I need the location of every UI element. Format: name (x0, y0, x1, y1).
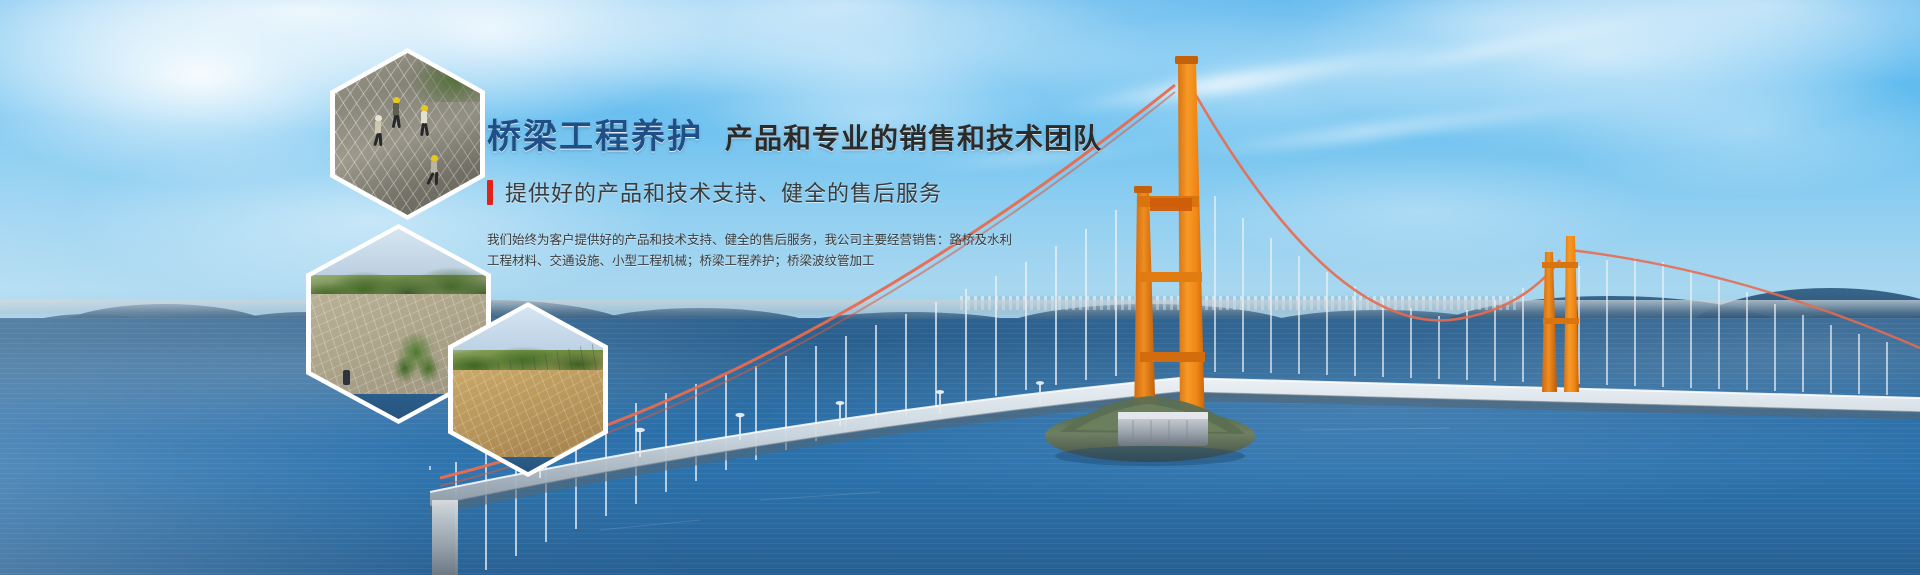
headline-secondary: 产品和专业的销售和技术团队 (725, 125, 1102, 153)
description-line-2: 工程材料、交通设施、小型工程机械；桥梁工程养护；桥梁波纹管加工 (487, 251, 1017, 272)
description-line-1: 我们始终为客户提供好的产品和技术支持、健全的售后服务，我公司主要经营销售：路桥及… (487, 230, 1017, 251)
headline-primary: 桥梁工程养护 (487, 120, 703, 154)
worker-figure (343, 370, 350, 385)
water-reflection (0, 318, 1920, 575)
accent-bar (487, 180, 493, 205)
sea-background (0, 318, 1920, 575)
subheadline-text: 提供好的产品和技术支持、健全的售后服务 (505, 176, 942, 208)
tree-shape (388, 328, 444, 400)
collage-photo-rock-slope-netting-workers (330, 48, 485, 220)
banner-description: 我们始终为客户提供好的产品和技术支持、健全的售后服务，我公司主要经营销售：路桥及… (487, 230, 1017, 272)
banner-copy: 桥梁工程养护 产品和专业的销售和技术团队 提供好的产品和技术支持、健全的售后服务… (487, 120, 1547, 272)
banner-subheadline: 提供好的产品和技术支持、健全的售后服务 (487, 176, 1547, 208)
hero-banner: 桥梁工程养护 产品和专业的销售和技术团队 提供好的产品和技术支持、健全的售后服务… (0, 0, 1920, 575)
banner-headline: 桥梁工程养护 产品和专业的销售和技术团队 (487, 120, 1547, 154)
